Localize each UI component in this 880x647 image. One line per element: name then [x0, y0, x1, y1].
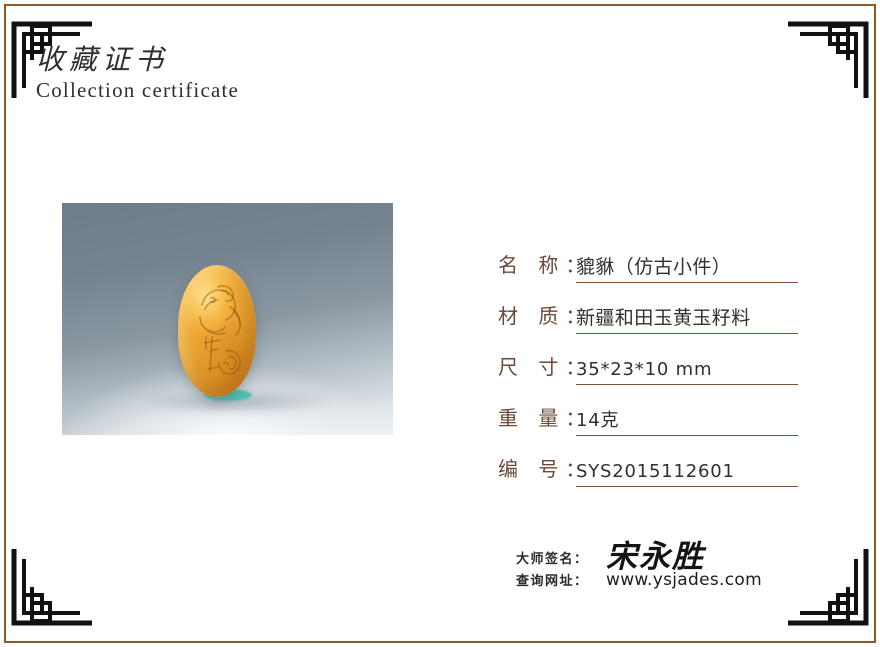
field-row-serial: 编 号： SYS2015112601 — [498, 436, 798, 487]
signature-row: 大师签名： 宋永胜 — [516, 538, 836, 570]
field-row-material: 材 质： 新疆和田玉黄玉籽料 — [498, 283, 798, 334]
field-label-name: 名 称： — [498, 249, 576, 283]
corner-ornament-bottom-left — [10, 545, 102, 637]
field-label-serial: 编 号： — [498, 453, 576, 487]
field-label-size: 尺 寸： — [498, 351, 576, 385]
field-row-weight: 重 量： 14克 — [498, 385, 798, 436]
corner-ornament-top-right — [778, 10, 870, 102]
field-value-weight: 14克 — [576, 411, 619, 432]
certificate-footer: 大师签名： 宋永胜 查询网址： www.ysjades.com — [516, 538, 836, 602]
website-label: 查询网址： — [516, 570, 606, 589]
field-row-size: 尺 寸： 35*23*10 mm — [498, 334, 798, 385]
field-value-serial: SYS2015112601 — [576, 462, 735, 483]
field-value-material: 新疆和田玉黄玉籽料 — [576, 308, 751, 330]
page-title-cn: 收藏证书 — [36, 44, 239, 76]
product-photo — [62, 203, 393, 435]
field-underline-material: 新疆和田玉黄玉籽料 — [576, 302, 798, 334]
field-value-size: 35*23*10 mm — [576, 360, 712, 381]
master-signature: 宋永胜 — [606, 542, 705, 573]
field-underline-weight: 14克 — [576, 404, 798, 436]
page-title-en: Collection certificate — [36, 78, 239, 103]
field-row-name: 名 称： 貔貅（仿古小件） — [498, 232, 798, 283]
jade-pixiu-carving — [178, 265, 256, 397]
field-label-material: 材 质： — [498, 300, 576, 334]
jade-carving-relief-icon — [178, 265, 256, 397]
collection-certificate: 收藏证书 Collection certificate — [0, 0, 880, 647]
field-underline-serial: SYS2015112601 — [576, 455, 798, 487]
certificate-fields: 名 称： 貔貅（仿古小件） 材 质： 新疆和田玉黄玉籽料 尺 寸： 35*23*… — [498, 232, 798, 487]
field-underline-size: 35*23*10 mm — [576, 353, 798, 385]
field-label-weight: 重 量： — [498, 402, 576, 436]
field-value-name: 貔貅（仿古小件） — [576, 257, 731, 279]
signature-label: 大师签名： — [516, 548, 606, 567]
certificate-header: 收藏证书 Collection certificate — [36, 44, 239, 103]
field-underline-name: 貔貅（仿古小件） — [576, 251, 798, 283]
